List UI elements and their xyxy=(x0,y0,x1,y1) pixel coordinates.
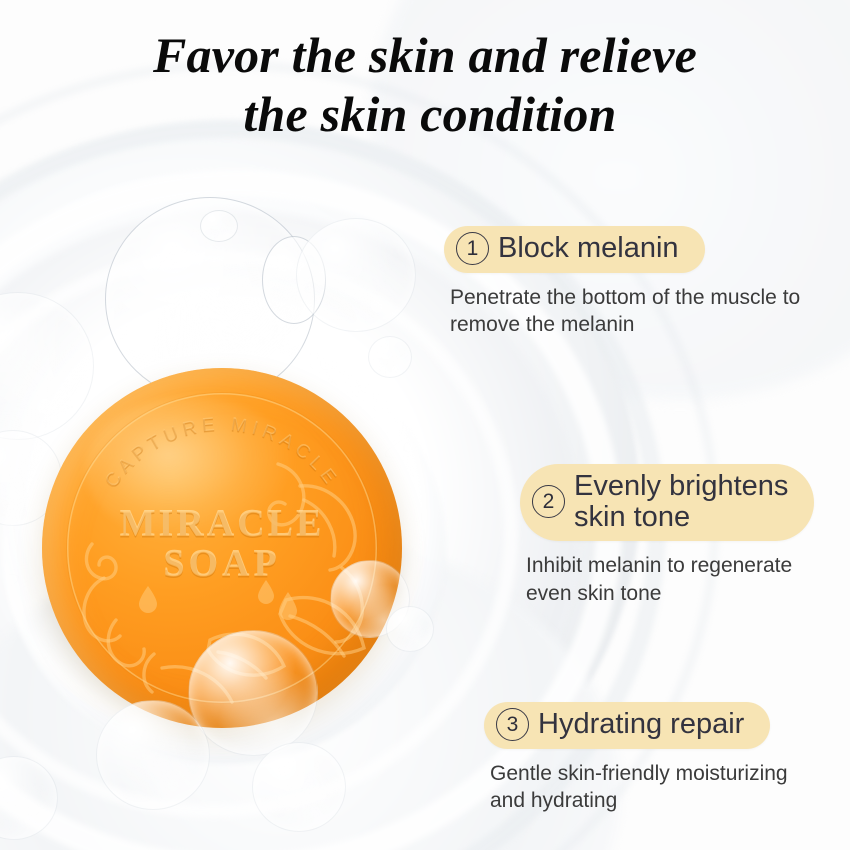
feature-3-pill: 3 Hydrating repair xyxy=(484,702,770,749)
feature-2-description: Inhibit melanin to regenerate even skin … xyxy=(526,552,814,607)
headline-line-2: the skin condition xyxy=(0,85,850,144)
feature-1-title: Block melanin xyxy=(498,233,679,264)
product-soap-bar: CAPTURE MIRACLE CAPTURE MIRACLE xyxy=(42,368,402,728)
feature-3-number: 3 xyxy=(496,708,529,741)
soap-body: CAPTURE MIRACLE CAPTURE MIRACLE xyxy=(42,368,402,728)
feature-block-2: 2 Evenly brightens skin tone Inhibit mel… xyxy=(520,464,814,607)
feature-3-description: Gentle skin-friendly moisturizing and hy… xyxy=(490,760,788,815)
feature-2-title: Evenly brightens skin tone xyxy=(574,471,788,532)
product-feature-banner: CAPTURE MIRACLE CAPTURE MIRACLE xyxy=(0,0,850,850)
bubble-front-bottom-left xyxy=(0,756,58,840)
headline: Favor the skin and relieve the skin cond… xyxy=(0,26,850,144)
bubble-oval-top-right xyxy=(262,236,326,324)
soap-brand-text: MIRACLE SOAP xyxy=(42,505,402,583)
feature-1-number: 1 xyxy=(456,232,489,265)
feature-1-description: Penetrate the bottom of the muscle to re… xyxy=(450,284,800,339)
soap-brand-line1: MIRACLE xyxy=(42,505,402,543)
feature-block-3: 3 Hydrating repair Gentle skin-friendly … xyxy=(484,702,788,815)
soap-brand-line2: SOAP xyxy=(42,545,402,583)
feature-block-1: 1 Block melanin Penetrate the bottom of … xyxy=(444,226,800,339)
feature-2-pill: 2 Evenly brightens skin tone xyxy=(520,464,814,541)
feature-1-pill: 1 Block melanin xyxy=(444,226,705,273)
feature-3-title: Hydrating repair xyxy=(538,709,744,740)
feature-2-number: 2 xyxy=(532,485,565,518)
bubble-faint-top-right xyxy=(296,218,416,332)
bubble-tiny-top xyxy=(200,210,238,242)
headline-line-1: Favor the skin and relieve xyxy=(0,26,850,85)
